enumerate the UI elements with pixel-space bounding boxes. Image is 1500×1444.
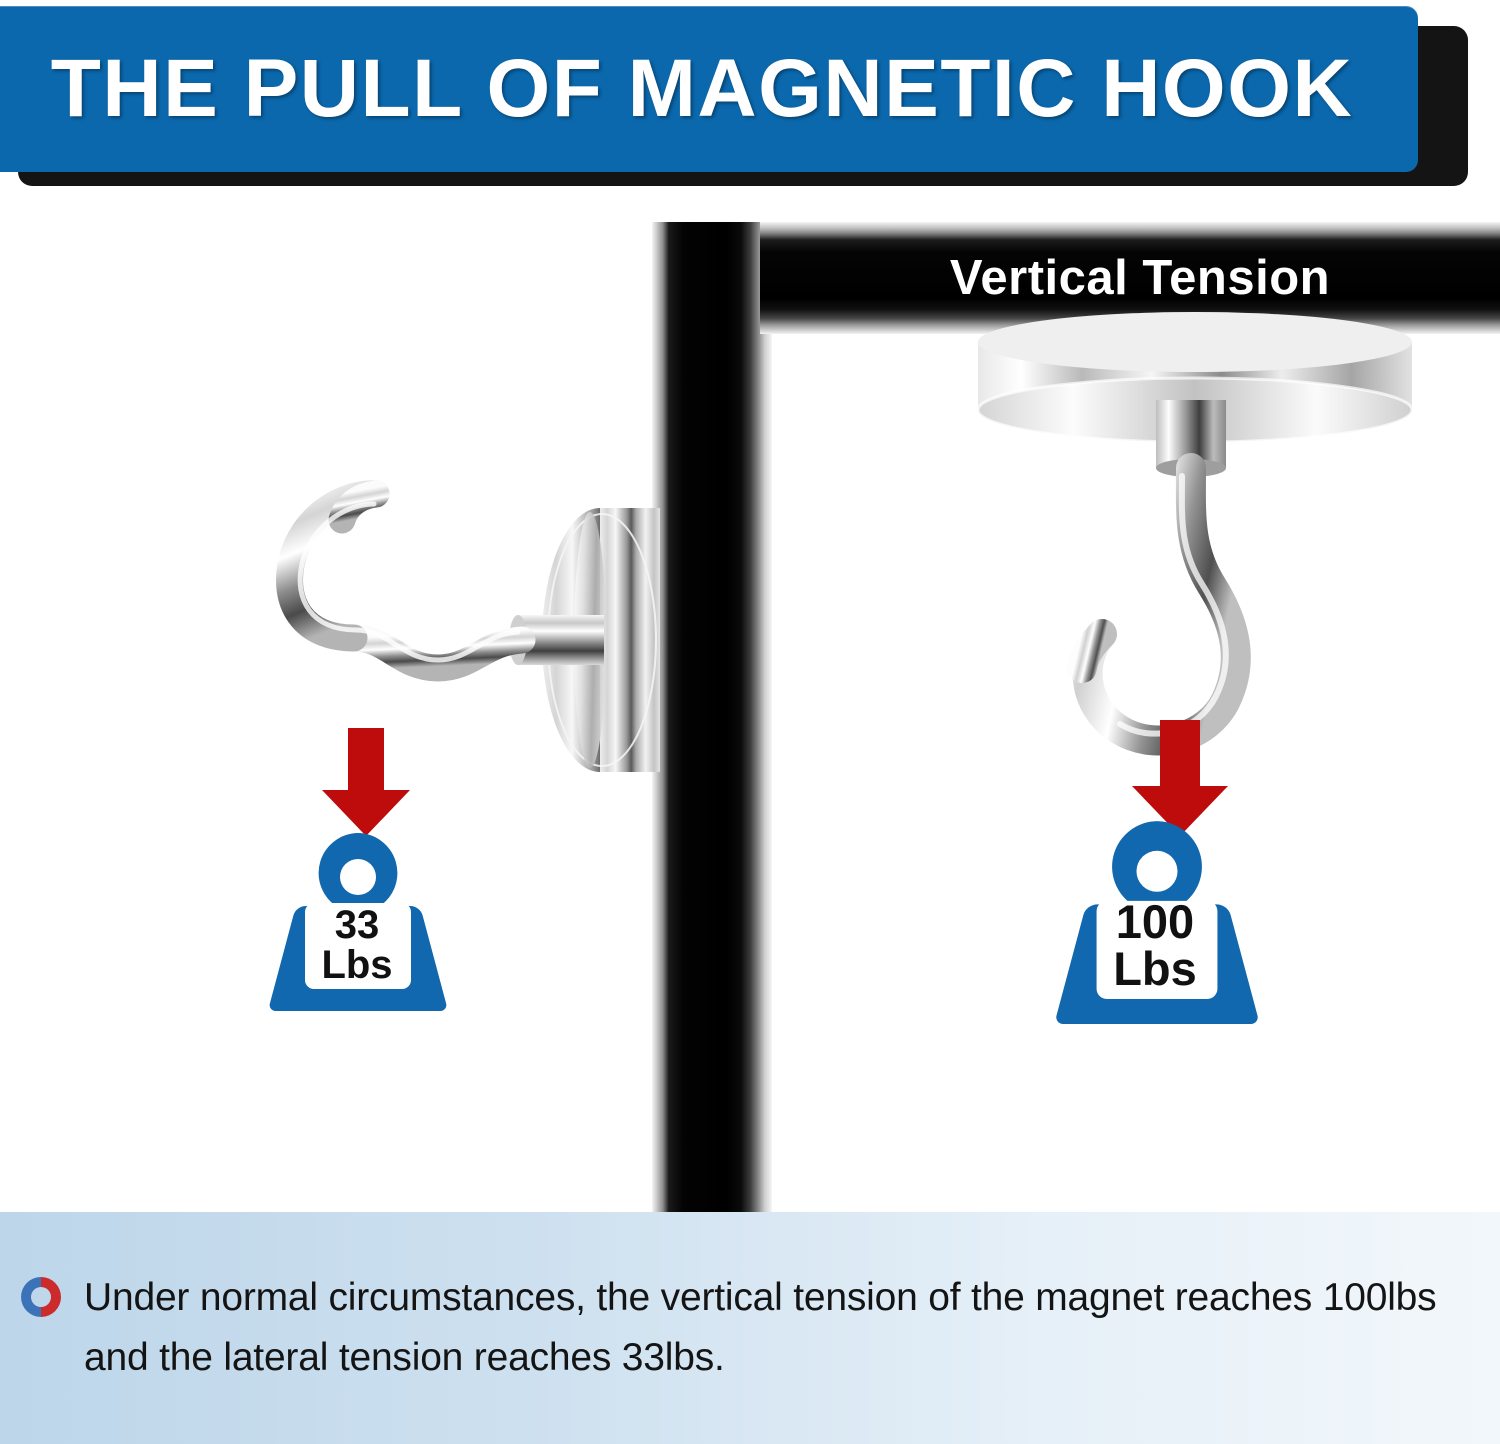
- weight-badge-33lbs: 33 Lbs: [258, 825, 458, 1030]
- caption-text: Under normal circumstances, the vertical…: [22, 1268, 1470, 1389]
- weight-icon: [1032, 812, 1282, 1040]
- weight-icon: [258, 825, 458, 1025]
- down-arrow-icon: [318, 728, 414, 838]
- title-banner: THE PULL OF MAGNETIC HOOK: [0, 0, 1500, 200]
- magnet-ring-icon: [18, 1274, 64, 1320]
- weight-badge-100lbs: 100 Lbs: [1032, 812, 1282, 1045]
- caption-panel: Under normal circumstances, the vertical…: [0, 1212, 1500, 1444]
- label-vertical-tension: Vertical Tension: [790, 222, 1490, 334]
- infographic-page: THE PULL OF MAGNETIC HOOK: [0, 0, 1500, 1444]
- label-horizontal-tension-text: Horizontal Tension: [850, 477, 906, 923]
- magnet-disc-side-view: [250, 410, 680, 880]
- diagram-stage: 33 Lbs: [0, 200, 1500, 1212]
- caption-inner: Under normal circumstances, the vertical…: [0, 1268, 1500, 1389]
- title-banner-plate: THE PULL OF MAGNETIC HOOK: [0, 6, 1418, 172]
- label-vertical-tension-text: Vertical Tension: [950, 250, 1330, 306]
- page-title: THE PULL OF MAGNETIC HOOK: [0, 6, 1418, 172]
